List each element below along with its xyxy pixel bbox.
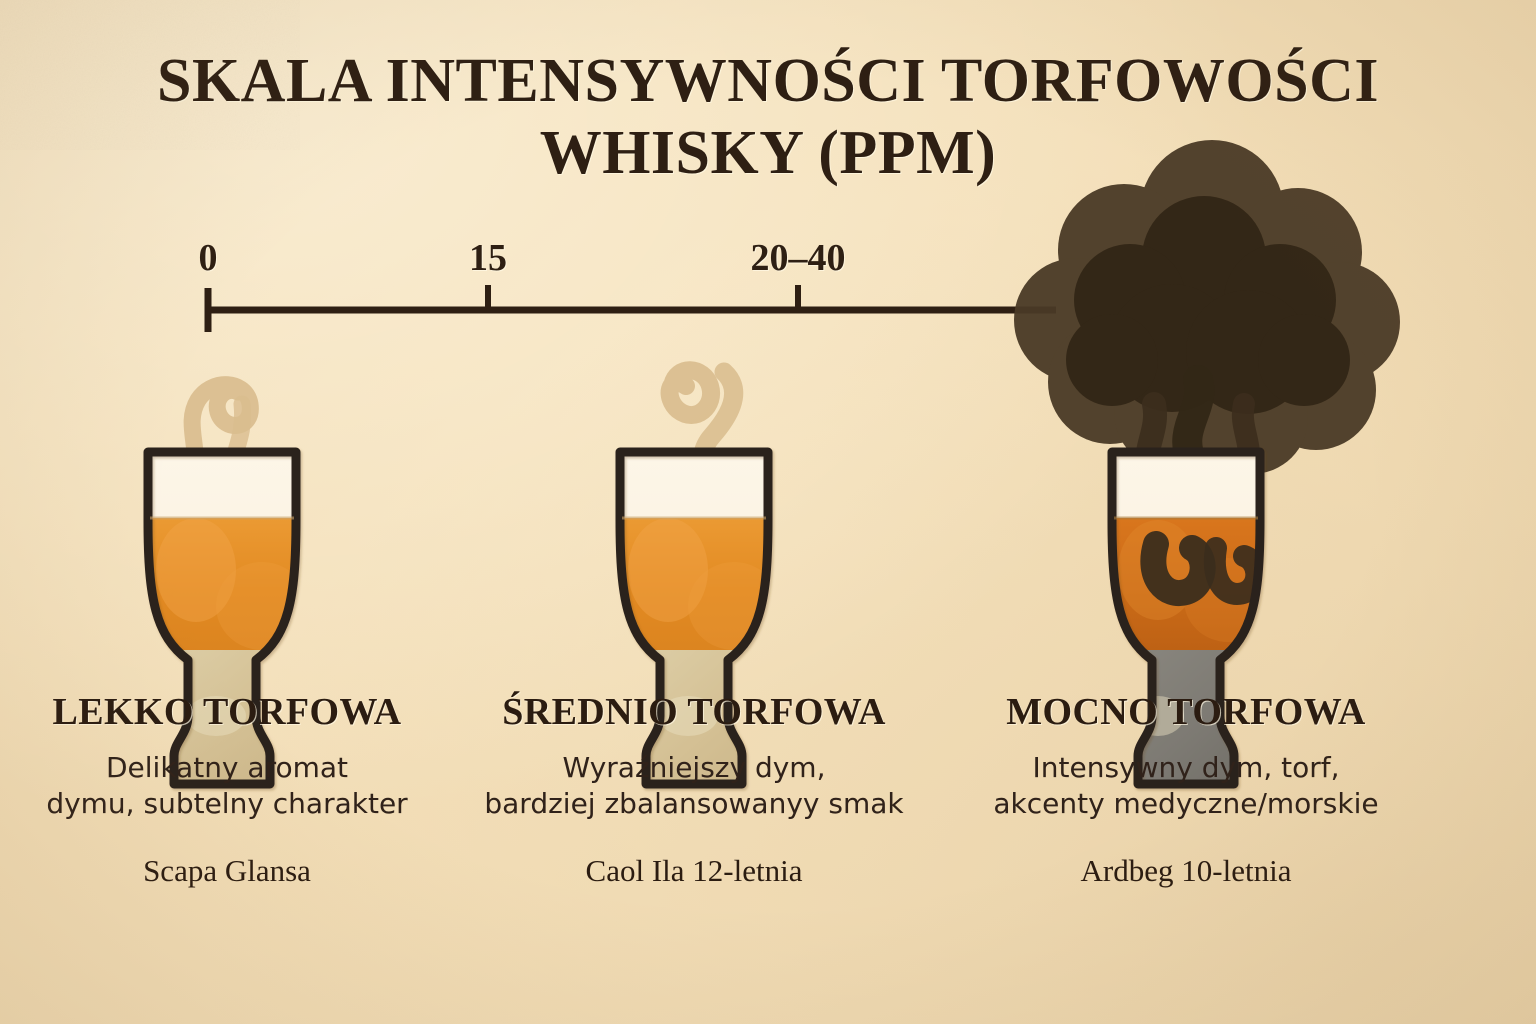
category-column-medium: ŚREDNIO TORFOWA Wyraźniejszy dym, bardzi… <box>459 690 929 889</box>
liquid-highlight <box>1118 520 1198 620</box>
description-line-2: akcenty medyczne/morskie <box>951 786 1421 822</box>
ppm-axis <box>208 285 1056 332</box>
axis-tick-label-15: 15 <box>469 236 507 280</box>
category-example-light: Scapa Glansa <box>0 853 462 889</box>
smoke-wisp-icon <box>192 385 250 468</box>
category-heading-light: LEKKO TORFOWA <box>0 690 462 734</box>
category-description-heavy: Intensywny dym, torf, akcenty medyczne/m… <box>951 750 1421 823</box>
category-description-medium: Wyraźniejszy dym, bardziej zbalansowanyy… <box>459 750 929 823</box>
liquid-highlight <box>628 518 708 622</box>
whisky-liquid <box>140 518 308 678</box>
whisky-liquid <box>612 518 780 678</box>
description-line-1: Wyraźniejszy dym, <box>459 750 929 786</box>
category-heading-heavy: MOCNO TORFOWA <box>951 690 1421 734</box>
smoke-curl-icon-2 <box>664 372 734 519</box>
liquid-highlight-2 <box>688 562 780 650</box>
axis-tick-label-0: 0 <box>199 236 218 280</box>
smoke-cloud-icon-outer <box>1014 140 1400 474</box>
infographic-poster: SKALA INTENSYWNOŚCI TORFOWOŚCI WHISKY (P… <box>0 0 1536 1024</box>
liquid-highlight-2 <box>216 562 308 650</box>
smoke-cloud-icon-core <box>1066 196 1350 414</box>
category-example-medium: Caol Ila 12-letnia <box>459 853 929 889</box>
smoke-swirl-in-liquid <box>1153 544 1256 594</box>
description-line-2: dymu, subtelny charakter <box>0 786 462 822</box>
smoke-column-icon-2 <box>1147 404 1160 562</box>
smoke-curl-icon <box>670 370 712 415</box>
liquid-highlight-2 <box>1184 558 1272 642</box>
category-example-heavy: Ardbeg 10-letnia <box>951 853 1421 889</box>
liquid-highlight <box>156 518 236 622</box>
smoke-column-icon-3 <box>1236 404 1249 556</box>
axis-tick-label-20-40: 20–40 <box>751 236 846 280</box>
page-title: SKALA INTENSYWNOŚCI TORFOWOŚCI WHISKY (P… <box>0 46 1536 190</box>
description-line-2: bardziej zbalansowanyy smak <box>459 786 929 822</box>
smoke-wisp-icon-lower <box>231 404 266 504</box>
category-heading-medium: ŚREDNIO TORFOWA <box>459 690 929 734</box>
category-column-light: LEKKO TORFOWA Delikatny aromat dymu, sub… <box>0 690 462 889</box>
category-column-heavy: MOCNO TORFOWA Intensywny dym, torf, akce… <box>951 690 1421 889</box>
description-line-1: Delikatny aromat <box>0 750 462 786</box>
description-line-1: Intensywny dym, torf, <box>951 750 1421 786</box>
category-description-light: Delikatny aromat dymu, subtelny charakte… <box>0 750 462 823</box>
whisky-liquid <box>1104 518 1272 678</box>
page-title-line-1: SKALA INTENSYWNOŚCI TORFOWOŚCI <box>157 47 1379 115</box>
smoke-column-icon <box>1187 380 1199 560</box>
page-title-line-2: WHISKY (PPM) <box>0 118 1536 190</box>
